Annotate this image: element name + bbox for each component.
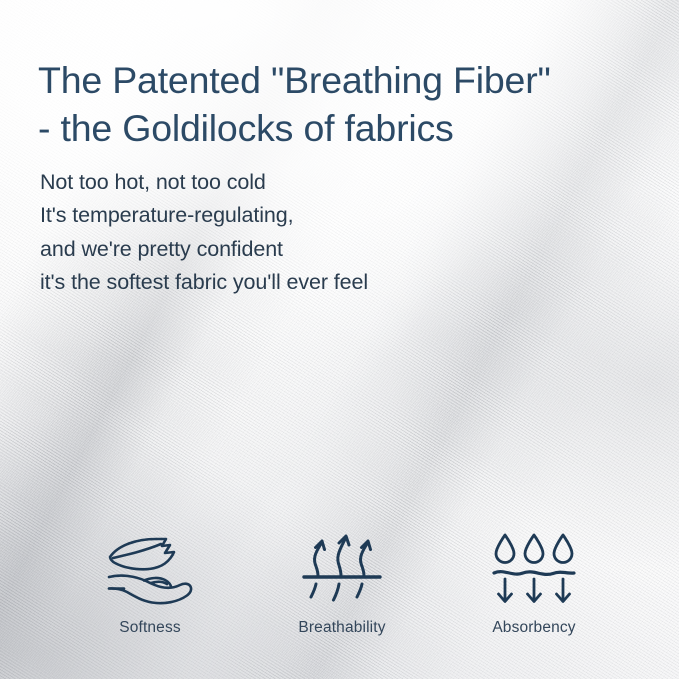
feature-label-softness: Softness xyxy=(119,619,181,637)
feature-label-absorbency: Absorbency xyxy=(492,619,575,637)
feature-list: Softness xyxy=(62,528,622,637)
upward-airflow-arrows-icon xyxy=(301,528,383,606)
product-feature-graphic: The Patented "Breathing Fiber" - the Gol… xyxy=(0,0,679,679)
feature-item-absorbency: Absorbency xyxy=(446,528,622,637)
subheading-copy: Not too hot, not too cold It's temperatu… xyxy=(40,166,510,300)
feature-item-softness: Softness xyxy=(62,528,238,637)
feature-item-breathability: Breathability xyxy=(254,528,430,637)
page-title: The Patented "Breathing Fiber" - the Gol… xyxy=(38,56,650,152)
water-droplets-down-arrows-icon xyxy=(491,528,577,606)
feature-label-breathability: Breathability xyxy=(298,619,385,637)
feather-in-hand-icon xyxy=(104,528,196,606)
